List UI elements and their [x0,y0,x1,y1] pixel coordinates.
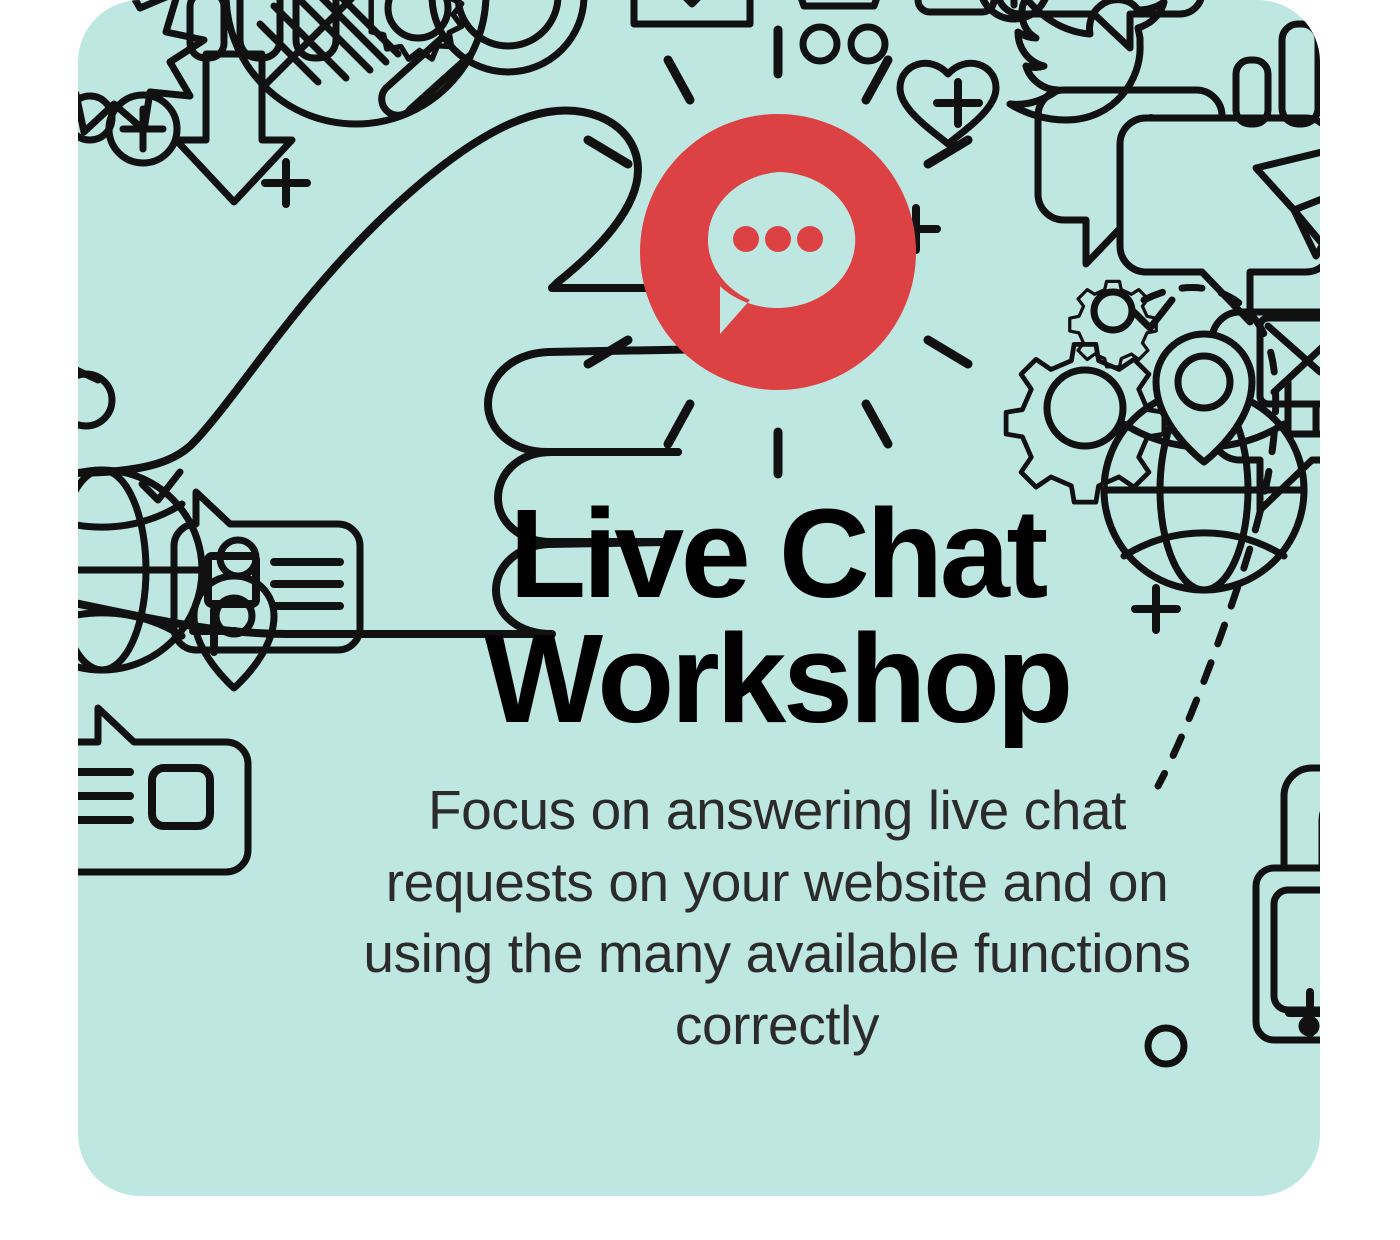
page-title: Live Chat Workshop [156,492,1398,741]
card-text-block: Live Chat Workshop Focus on answering li… [156,492,1398,1061]
hero-typing-dots [733,226,823,252]
title-line-1: Live Chat [509,483,1045,624]
card-subtitle: Focus on answering live chat requests on… [357,775,1197,1061]
speech-bubble-card-image: Live Chat Workshop Focus on answering li… [0,0,1400,1240]
hero-chat-icon [638,112,918,392]
speech-bubble-container: Live Chat Workshop Focus on answering li… [78,0,1320,1196]
title-line-2: Workshop [156,617,1398,742]
